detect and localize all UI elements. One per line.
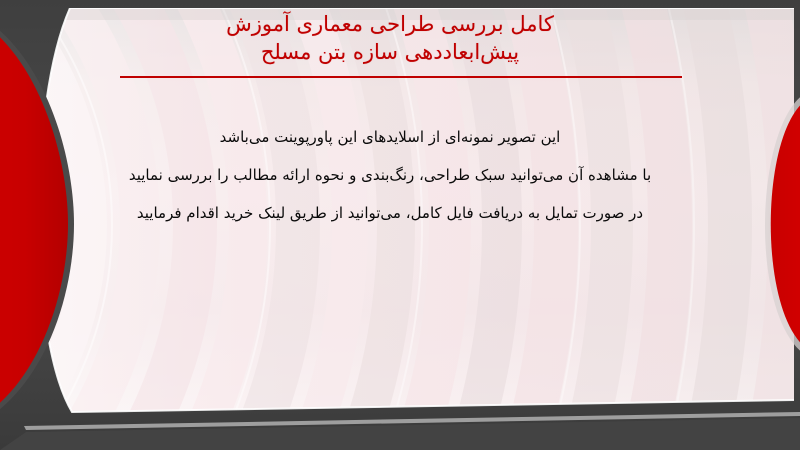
body-line-3: در صورت تمایل به دریافت فایل کامل، می‌تو… [60,194,720,232]
slide-body-text: این تصویر نمونه‌ای از اسلایدهای این پاور… [60,118,720,232]
slide-canvas: کامل بررسی طراحی معماری آموزش پیش‌ابعادد… [0,0,800,450]
slide-title: کامل بررسی طراحی معماری آموزش پیش‌ابعادد… [60,10,720,66]
body-line-1: این تصویر نمونه‌ای از اسلایدهای این پاور… [60,118,720,156]
slide-title-line-2: پیش‌ابعاددهی سازه بتن مسلح [60,38,720,66]
bottom-slant-band [0,380,800,450]
body-line-2: با مشاهده آن می‌توانید سبک طراحی، رنگ‌بن… [60,156,720,194]
slide-title-line-1: کامل بررسی طراحی معماری آموزش [60,10,720,38]
title-underline-rule [120,76,682,78]
